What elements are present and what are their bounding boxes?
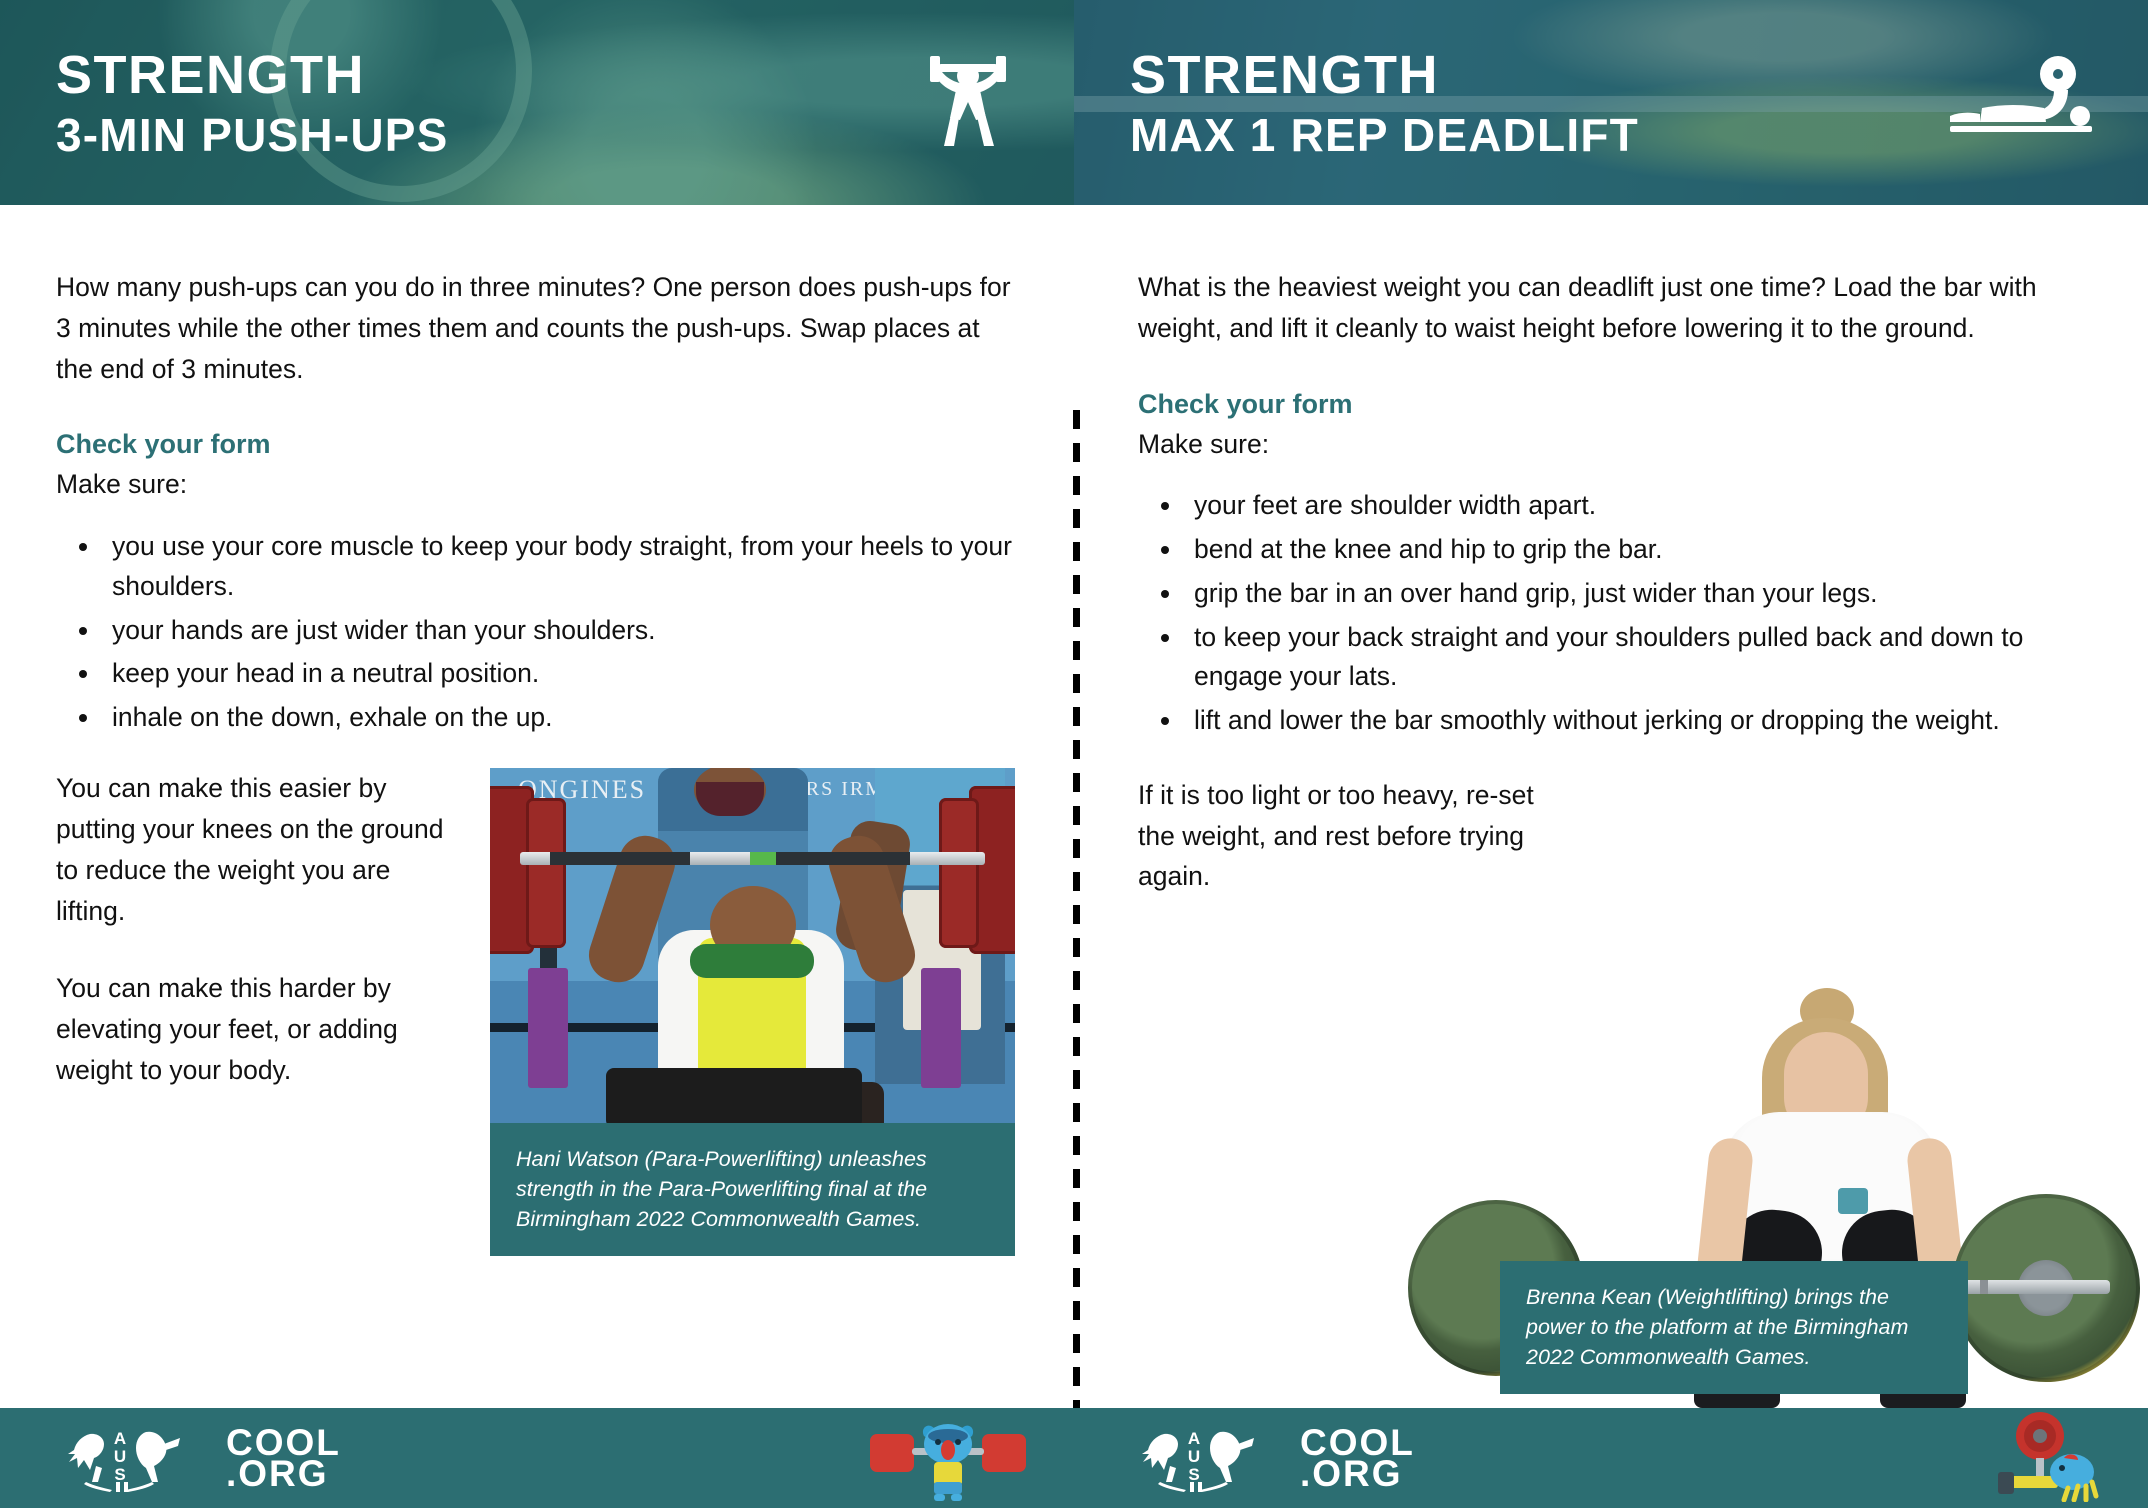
notes-and-figure-row: You can make this easier by putting your… (56, 768, 1018, 1256)
make-sure-label-right: Make sure: (1138, 424, 2096, 465)
australian-coat-of-arms-logo: A U S (56, 1420, 184, 1497)
intro-paragraph-right: What is the heaviest weight you can dead… (1138, 267, 2096, 349)
svg-text:A: A (114, 1429, 126, 1448)
barbell-center-mark (750, 852, 776, 865)
note-reset: If it is too light or too heavy, re-set … (1138, 775, 1558, 897)
barbell-grip-left (550, 852, 690, 865)
athlete-collar (690, 944, 814, 978)
cool-org-logo: COOL .ORG (226, 1427, 341, 1489)
list-item: you use your core muscle to keep your bo… (102, 527, 1018, 607)
list-item: to keep your back straight and your shou… (1184, 618, 2096, 698)
rack-base-right (921, 968, 961, 1088)
cool-org-line-2: .ORG (226, 1458, 341, 1489)
koala-barbell-mascot (868, 1410, 1028, 1507)
panel-header-deadlift: STRENGTH MAX 1 REP DEADLIFT (1074, 0, 2148, 205)
footer-logos-left: A U S COOL .ORG (56, 1420, 341, 1497)
cool-org-line-2-right: .ORG (1300, 1458, 1415, 1489)
figure-bench-press: ONGINES NIVERS IRMINGH (490, 768, 1015, 1256)
footer-left: A U S COOL .ORG (0, 1408, 1074, 1508)
weightlifting-icon (914, 50, 1022, 155)
list-item: keep your head in a neutral position. (102, 654, 1018, 694)
footer-logos-right: A U S COOL .ORG (1130, 1420, 1415, 1497)
para-powerlifting-bench-icon (1946, 52, 2096, 153)
header-row: STRENGTH 3-MIN PUSH-UPS (0, 0, 2148, 205)
form-checklist-right: your feet are shoulder width apart. bend… (1184, 486, 2096, 741)
title-block-deadlift: STRENGTH MAX 1 REP DEADLIFT (1130, 48, 1639, 158)
panel-body-push-ups: How many push-ups can you do in three mi… (0, 205, 1074, 1408)
svg-text:U: U (114, 1447, 126, 1466)
svg-text:S: S (1188, 1465, 1199, 1484)
figure-caption: Hani Watson (Para-Powerlifting) unleashe… (490, 1123, 1015, 1256)
notes-block: You can make this easier by putting your… (56, 768, 456, 1256)
list-item: lift and lower the bar smoothly without … (1184, 701, 2096, 741)
panel-header-push-ups: STRENGTH 3-MIN PUSH-UPS (0, 0, 1074, 205)
worksheet-page: STRENGTH 3-MIN PUSH-UPS (0, 0, 2148, 1508)
panel-title: 3-MIN PUSH-UPS (56, 112, 449, 158)
check-your-form-heading: Check your form (56, 429, 1018, 460)
panel-kicker: STRENGTH (56, 48, 449, 102)
note-harder: You can make this harder by elevating yo… (56, 968, 456, 1091)
barbell-grip-right (770, 852, 910, 865)
australian-coat-of-arms-logo-right: A U S (1130, 1420, 1258, 1497)
face-mask (696, 782, 764, 816)
notes-block-right: If it is too light or too heavy, re-set … (1138, 775, 1558, 897)
barbell-knurl-c (1980, 1280, 1988, 1294)
figure-deadlift: Brenna Kean (Weightlifting) brings the p… (1500, 978, 2148, 1408)
panel-kicker-right: STRENGTH (1130, 48, 1639, 102)
panel-body-deadlift: What is the heaviest weight you can dead… (1074, 205, 2148, 1408)
list-item: grip the bar in an over hand grip, just … (1184, 574, 2096, 614)
list-item: your feet are shoulder width apart. (1184, 486, 2096, 526)
svg-text:S: S (114, 1465, 125, 1484)
footer-right: A U S COOL .ORG (1074, 1408, 2148, 1508)
list-item: bend at the knee and hip to grip the bar… (1184, 530, 2096, 570)
list-item: inhale on the down, exhale on the up. (102, 698, 1018, 738)
check-your-form-heading-right: Check your form (1138, 389, 2096, 420)
bench-pad (606, 1068, 862, 1123)
cool-org-logo-right: COOL .ORG (1300, 1427, 1415, 1489)
svg-text:A: A (1188, 1429, 1200, 1448)
list-item: your hands are just wider than your shou… (102, 611, 1018, 651)
svg-text:U: U (1188, 1447, 1200, 1466)
note-easier: You can make this easier by putting your… (56, 768, 456, 932)
body-row: How many push-ups can you do in three mi… (0, 205, 2148, 1408)
make-sure-label: Make sure: (56, 464, 1018, 505)
intro-paragraph: How many push-ups can you do in three mi… (56, 267, 1018, 389)
koala-bench-press-mascot (1994, 1410, 2102, 1507)
rack-base-left (528, 968, 568, 1088)
photo-bench-press: ONGINES NIVERS IRMINGH (490, 768, 1015, 1123)
footer: A U S COOL .ORG (0, 1408, 2148, 1508)
figure-caption-right: Brenna Kean (Weightlifting) brings the p… (1500, 1261, 1968, 1394)
form-checklist: you use your core muscle to keep your bo… (102, 527, 1018, 738)
weight-plate-left-inner (526, 798, 566, 948)
barbell-bar (520, 852, 985, 865)
weight-plate-right-inner (939, 798, 979, 948)
title-block-push-ups: STRENGTH 3-MIN PUSH-UPS (56, 48, 449, 158)
panel-title-right: MAX 1 REP DEADLIFT (1130, 112, 1639, 158)
